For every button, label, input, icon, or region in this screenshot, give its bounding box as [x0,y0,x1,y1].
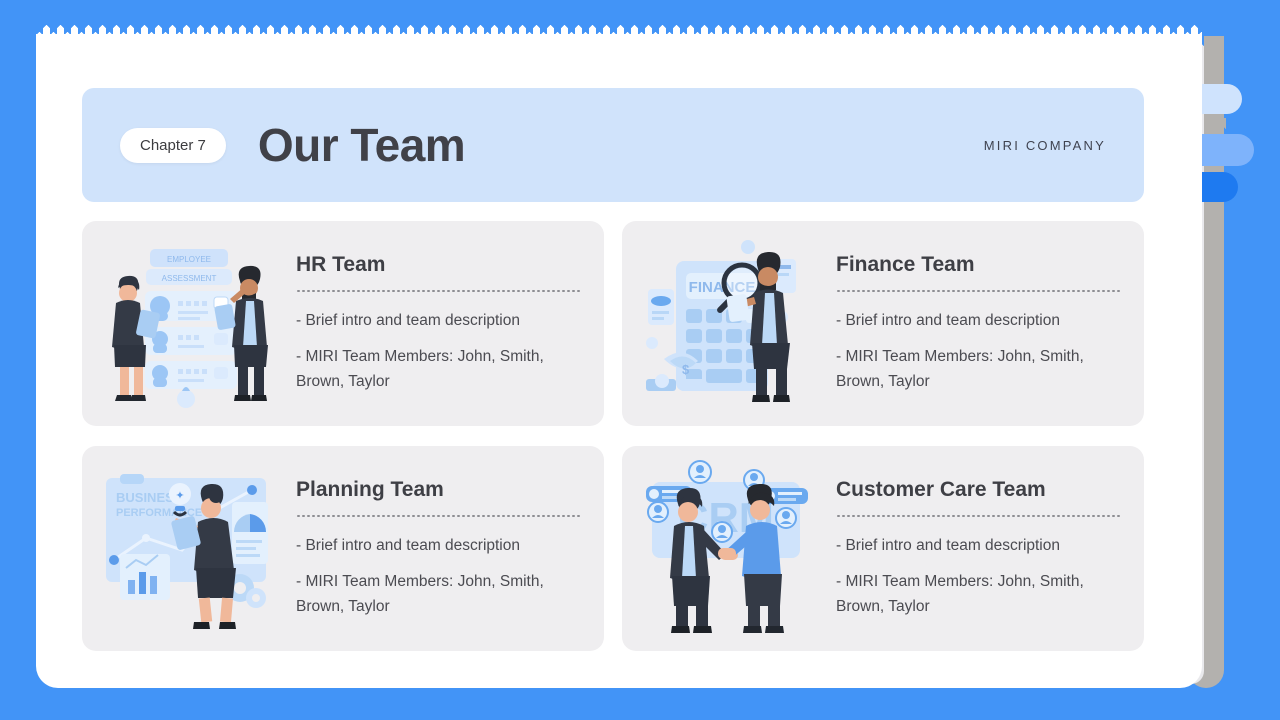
card-text-finance: Finance Team - Brief intro and team desc… [822,253,1126,393]
card-bullet: - Brief intro and team description [296,309,582,333]
card-title: HR Team [296,253,582,277]
page-title: Our Team [258,122,465,168]
card-divider [296,515,582,517]
card-bullet: - MIRI Team Members: John, Smith, Brown,… [296,570,582,618]
team-card-planning[interactable]: BUSINESS PERFORMANCE [82,446,604,651]
card-bullet: - MIRI Team Members: John, Smith, Brown,… [296,345,582,393]
svg-text:EMPLOYEE: EMPLOYEE [167,255,211,264]
crm-handshake-icon: CRM [630,456,822,641]
bookmark-tab-medium [1202,134,1254,166]
chapter-badge: Chapter 7 [120,128,226,163]
card-bullet: - MIRI Team Members: John, Smith, Brown,… [836,570,1122,618]
card-bullet: - Brief intro and team description [836,309,1122,333]
card-divider [296,290,582,292]
header-banner: Chapter 7 Our Team MIRI COMPANY [82,88,1144,202]
team-cards-grid: EMPLOYEE ASSESSMENT [82,221,1144,651]
team-card-hr[interactable]: EMPLOYEE ASSESSMENT [82,221,604,426]
svg-text:✦: ✦ [175,490,184,502]
card-bullet: - MIRI Team Members: John, Smith, Brown,… [836,345,1122,393]
business-performance-icon: BUSINESS PERFORMANCE [90,456,282,641]
brand-label: MIRI COMPANY [984,138,1106,153]
employee-assessment-icon: EMPLOYEE ASSESSMENT [90,231,282,416]
card-divider [836,515,1122,517]
card-bullet: - Brief intro and team description [836,534,1122,558]
card-title: Customer Care Team [836,478,1122,502]
card-text-planning: Planning Team - Brief intro and team des… [282,478,586,618]
card-bullet: - Brief intro and team description [296,534,582,558]
finance-calculator-icon: FINANCE [630,231,822,416]
svg-text:ASSESSMENT: ASSESSMENT [162,274,217,283]
team-card-customer-care[interactable]: CRM [622,446,1144,651]
svg-text:$: $ [682,362,690,377]
card-text-hr: HR Team - Brief intro and team descripti… [282,253,586,393]
card-text-customer-care: Customer Care Team - Brief intro and tea… [822,478,1126,618]
page-torn-top-edge [36,22,1202,34]
card-title: Finance Team [836,253,1122,277]
team-card-finance[interactable]: FINANCE [622,221,1144,426]
page-spine-notch-secondary [1204,118,1226,130]
card-title: Planning Team [296,478,582,502]
card-divider [836,290,1122,292]
